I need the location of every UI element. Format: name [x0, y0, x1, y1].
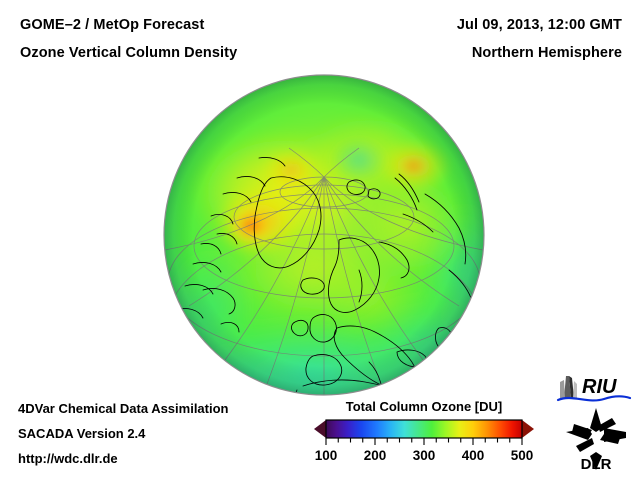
colorbar-tick-labels: 100200300400500	[306, 448, 542, 470]
colorbar-body	[326, 420, 522, 438]
colorbar-high-cap	[522, 420, 534, 438]
colorbar-title: Total Column Ozone [DU]	[306, 399, 542, 414]
website-url[interactable]: http://wdc.dlr.de	[18, 451, 118, 466]
globe-map	[163, 74, 485, 396]
colorbar-ticks	[326, 438, 522, 445]
colorbar-tick-label: 300	[413, 448, 436, 463]
colorbar-tick-label: 500	[511, 448, 534, 463]
colorbar-low-cap	[314, 420, 326, 438]
riu-logo: RIU	[556, 372, 632, 406]
forecast-timestamp: Jul 09, 2013, 12:00 GMT	[457, 17, 622, 33]
colorbar-ramp	[306, 418, 542, 448]
colorbar: Total Column Ozone [DU] 100200300400500	[306, 399, 542, 475]
version-label: SACADA Version 2.4	[18, 426, 145, 441]
ozone-forecast-map-figure: GOME–2 / MetOp Forecast Ozone Vertical C…	[0, 0, 640, 480]
colorbar-tick-label: 200	[364, 448, 387, 463]
colorbar-tick-label: 100	[315, 448, 338, 463]
method-label: 4DVar Chemical Data Assimilation	[18, 401, 229, 416]
hemisphere-label: Northern Hemisphere	[472, 45, 622, 61]
riu-tower-icon	[560, 376, 577, 398]
dlr-wordmark: DLR	[581, 456, 612, 472]
colorbar-tick-label: 400	[462, 448, 485, 463]
riu-wordmark: RIU	[582, 376, 617, 398]
dlr-logo: DLR	[562, 406, 630, 472]
page-subtitle: Ozone Vertical Column Density	[20, 45, 237, 61]
page-title: GOME–2 / MetOp Forecast	[20, 17, 204, 33]
